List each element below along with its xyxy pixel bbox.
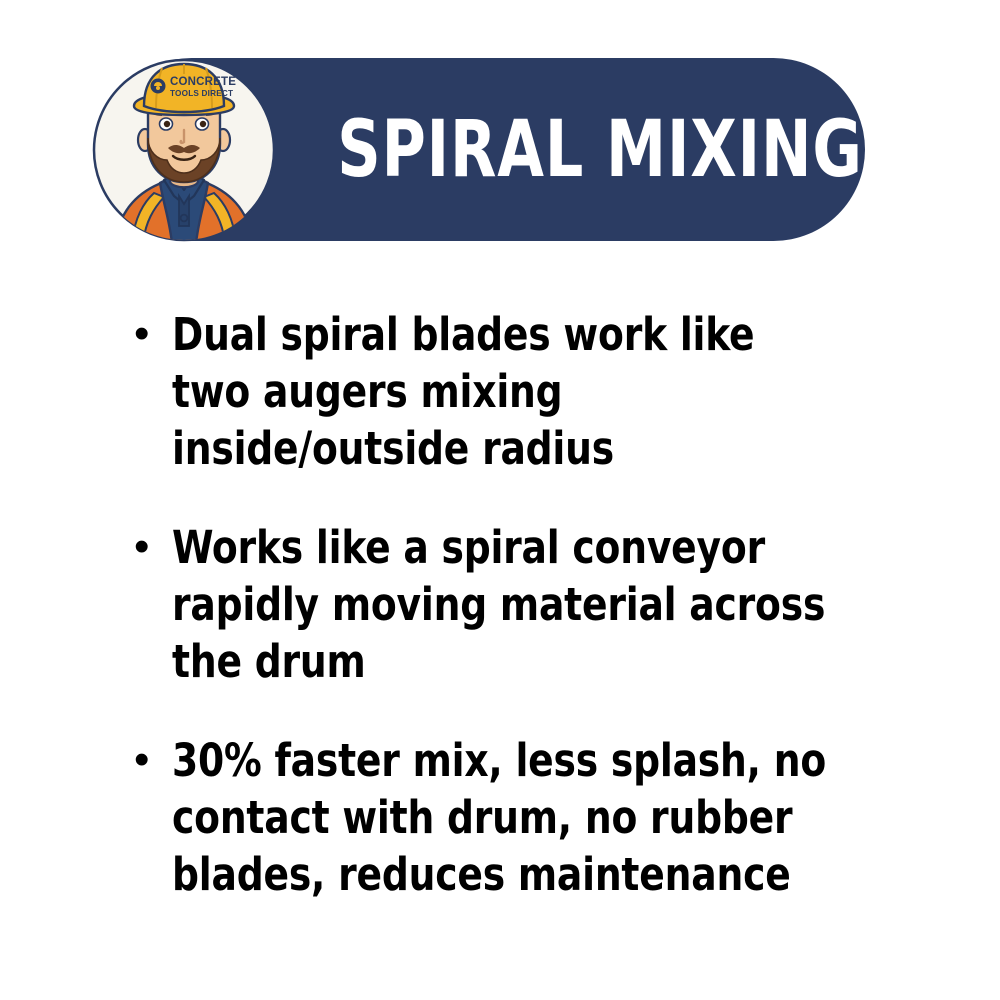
pupil-right <box>200 121 206 127</box>
helmet-brand-line2: TOOLS DIRECT <box>170 89 233 98</box>
page-title: SPIRAL MIXING <box>385 58 815 241</box>
bullet-marker-icon: • <box>128 732 172 788</box>
list-item: • Dual spiral blades work like two auger… <box>128 306 888 477</box>
bullet-text: 30% faster mix, less splash, no contact … <box>172 732 838 903</box>
feature-bullet-list: • Dual spiral blades work like two auger… <box>128 306 888 903</box>
pupil-left <box>164 121 170 127</box>
construction-worker-avatar: CONCRETE TOOLS DIRECT <box>90 56 278 244</box>
slide-canvas: SPIRAL MIXING <box>0 0 1000 1000</box>
list-item: • 30% faster mix, less splash, no contac… <box>128 732 888 903</box>
helmet-logo-icon <box>151 79 166 94</box>
bullet-marker-icon: • <box>128 306 172 362</box>
bullet-marker-icon: • <box>128 519 172 575</box>
list-item: • Works like a spiral conveyor rapidly m… <box>128 519 888 690</box>
helmet-brand-line1: CONCRETE <box>170 76 236 88</box>
header-banner: SPIRAL MIXING <box>100 58 865 241</box>
bullet-text: Dual spiral blades work like two augers … <box>172 306 838 477</box>
bullet-text: Works like a spiral conveyor rapidly mov… <box>172 519 838 690</box>
